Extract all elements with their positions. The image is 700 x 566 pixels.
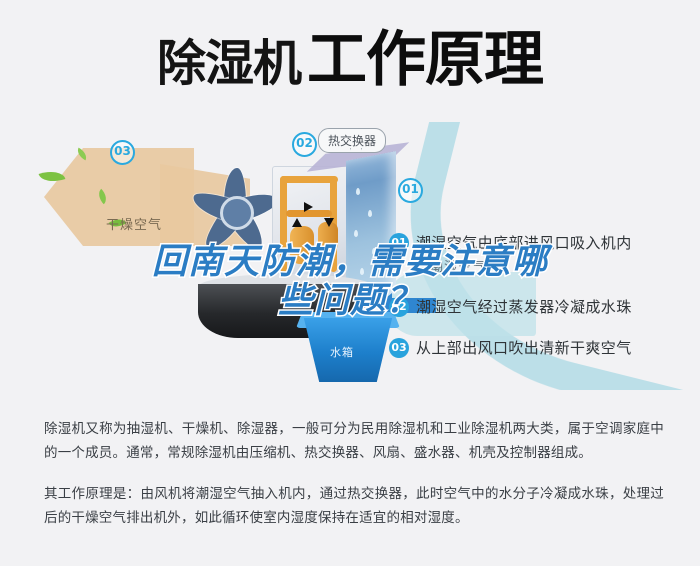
- flow-arrow-down-icon: [324, 218, 334, 227]
- water-tank-label: 水箱: [330, 344, 354, 360]
- diagram-badge-03: 03: [110, 140, 135, 165]
- page-title-secondary: 工作原理: [307, 30, 543, 90]
- dry-air-label: 干燥空气: [106, 214, 162, 233]
- condensate-droplet-icon: [354, 230, 358, 237]
- flow-arrow-right-icon: [304, 202, 313, 212]
- diagram-badge-02: 02: [292, 132, 317, 157]
- overlay-headline: 回南天防潮，需要注意哪 些问题？: [0, 243, 700, 321]
- flow-arrow-up-icon: [292, 218, 302, 227]
- page-title-primary: 除湿机: [157, 39, 301, 88]
- body-copy: 除湿机又称为抽湿机、干燥机、除湿器，一般可分为民用除湿机和工业除湿机两大类，属于…: [44, 418, 664, 531]
- step-text-03: 从上部出风口吹出清新干爽空气: [416, 337, 632, 358]
- page-title: 除湿机工作原理: [0, 30, 700, 90]
- step-badge-03: 03: [389, 338, 409, 358]
- fan-hub: [220, 196, 254, 230]
- overlay-headline-line1: 回南天防潮，需要注意哪: [0, 243, 700, 282]
- diagram-badge-01: 01: [398, 178, 423, 203]
- step-note-03: 03 从上部出风口吹出清新干爽空气: [389, 337, 632, 358]
- paragraph-1: 除湿机又称为抽湿机、干燥机、除湿器，一般可分为民用除湿机和工业除湿机两大类，属于…: [44, 418, 664, 465]
- infographic-page: 除湿机工作原理: [0, 0, 700, 566]
- condensate-droplet-icon: [356, 188, 360, 195]
- overlay-headline-line2: 些问题？: [0, 282, 700, 321]
- paragraph-2: 其工作原理是：由风机将潮湿空气抽入机内，通过热交换器，此时空气中的水分子冷凝成水…: [44, 483, 664, 530]
- condensate-droplet-icon: [368, 210, 372, 217]
